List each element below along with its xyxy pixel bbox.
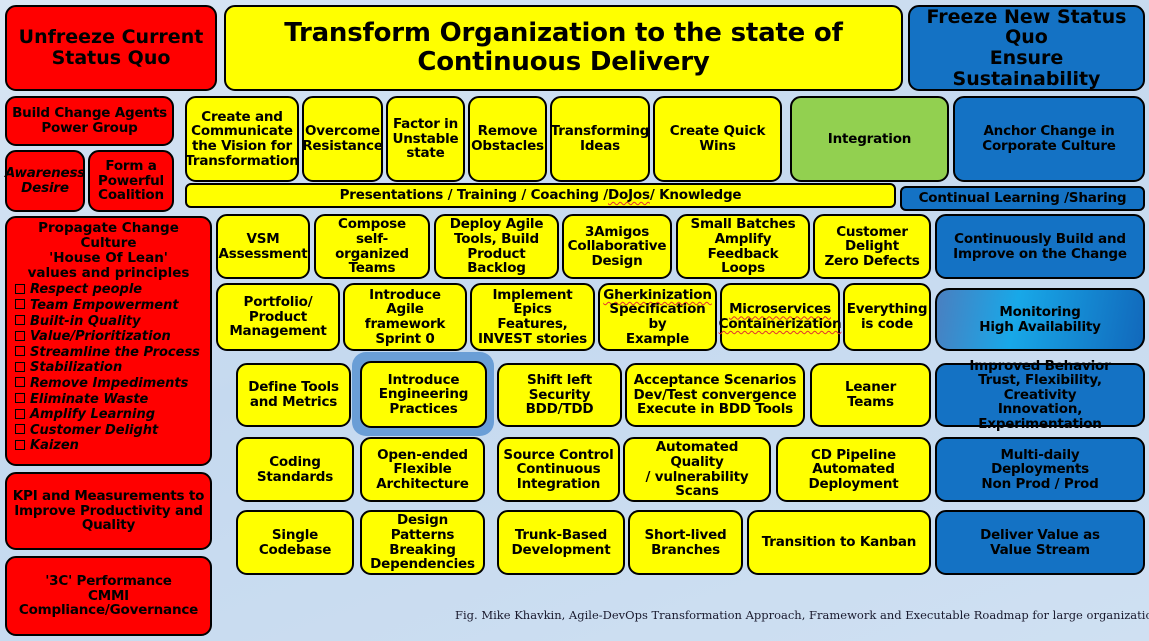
row6-deliver-value-stream: Deliver Value as Value Stream (935, 510, 1145, 575)
header-freeze: Freeze New Status Quo Ensure Sustainabil… (908, 5, 1145, 91)
list-item: Stabilization (11, 360, 206, 376)
checkbox-icon (15, 393, 25, 403)
row2-vsm-assessment: VSM Assessment (216, 214, 310, 279)
row2-continuously-build-improve: Continuously Build and Improve on the Ch… (935, 214, 1145, 279)
checkbox-icon (15, 362, 25, 372)
row1-create-communicate-vision: Create and Communicate the Vision for Tr… (185, 96, 299, 182)
containerization-label: Containerization (719, 317, 842, 332)
checkbox-icon (15, 331, 25, 341)
row5-coding-standards: Coding Standards (236, 437, 354, 502)
row4-improved-behavior: Improved Behavior Trust, Flexibility, Cr… (935, 363, 1145, 427)
row2-small-batches-feedback: Small Batches Amplify Feedback Loops (676, 214, 810, 279)
row5-source-control-ci: Source Control Continuous Integration (497, 437, 620, 502)
list-item: Respect people (11, 282, 206, 298)
row1-remove-obstacles: Remove Obstacles (468, 96, 547, 182)
left-awareness-desire: Awareness Desire (5, 150, 85, 212)
row1-integration: Integration (790, 96, 949, 182)
row4-define-tools-metrics: Define Tools and Metrics (236, 363, 351, 427)
row3-portfolio-product-management: Portfolio/ Product Management (216, 283, 340, 351)
row2-customer-delight-zero-defects: Customer Delight Zero Defects (813, 214, 931, 279)
row3-monitoring-high-availability: Monitoring High Availability (935, 288, 1145, 351)
row5-multi-daily-deployments: Multi-daily Deployments Non Prod / Prod (935, 437, 1145, 502)
list-item: Kaizen (11, 438, 206, 454)
row3-introduce-agile-framework: Introduce Agile framework Sprint 0 (343, 283, 467, 351)
row4-shift-left-security: Shift left Security BDD/TDD (497, 363, 622, 427)
row4-acceptance-scenarios-bdd: Acceptance Scenarios Dev/Test convergenc… (625, 363, 805, 427)
row1-overcome-resistance: Overcome Resistance (302, 96, 383, 182)
checkbox-icon (15, 409, 25, 419)
diagram-canvas: Unfreeze Current Status Quo Transform Or… (0, 0, 1149, 641)
left-kpi-measurements: KPI and Measurements to Improve Producti… (5, 472, 212, 550)
row1-create-quick-wins: Create Quick Wins (653, 96, 782, 182)
checkbox-icon (15, 424, 25, 434)
row4-leaner-teams: Leaner Teams (810, 363, 931, 427)
list-item: Built-in Quality (11, 314, 206, 330)
checkbox-icon (15, 440, 25, 450)
row5-cd-pipeline-automated-deployment: CD Pipeline Automated Deployment (776, 437, 931, 502)
row2-deploy-agile-tools: Deploy Agile Tools, Build Product Backlo… (434, 214, 559, 279)
list-item: Eliminate Waste (11, 392, 206, 408)
row2-3amigos-collaborative-design: 3Amigos Collaborative Design (562, 214, 672, 279)
header-transform: Transform Organization to the state of C… (224, 5, 903, 91)
list-item: Team Empowerment (11, 298, 206, 314)
left-house-of-lean: Propagate Change Culture 'House Of Lean'… (5, 216, 212, 466)
house-of-lean-list: Respect people Team Empowerment Built-in… (11, 282, 206, 454)
list-item: Customer Delight (11, 423, 206, 439)
header-unfreeze: Unfreeze Current Status Quo (5, 5, 217, 91)
list-item: Amplify Learning (11, 407, 206, 423)
banner-presentations-training: Presentations / Training / Coaching / Do… (185, 183, 896, 208)
row6-trunk-based-development: Trunk-Based Development (497, 510, 625, 575)
banner-text-pre: Presentations / Training / Coaching / (340, 188, 608, 203)
checkbox-icon (15, 315, 25, 325)
row3-microservices-containerization: Microservices Containerization (720, 283, 840, 351)
row6-transition-to-kanban: Transition to Kanban (747, 510, 931, 575)
row2-compose-self-organized-teams: Compose self-organized Teams (314, 214, 430, 279)
gherkinization-label: Gherkinization (603, 288, 711, 303)
list-item: Streamline the Process (11, 345, 206, 361)
row3-everything-is-code: Everything is code (843, 283, 931, 351)
checkbox-icon (15, 346, 25, 356)
microservices-label: Microservices (729, 302, 831, 317)
row3-implement-epics-invest: Implement Epics Features, INVEST stories (470, 283, 595, 351)
row1-transforming-ideas: Transforming Ideas (550, 96, 650, 182)
row3-gherkinization-spec-by-example: Gherkinization Specification by Example (598, 283, 717, 351)
banner-continual-learning: Continual Learning /Sharing (900, 186, 1145, 211)
figure-caption: Fig. Mike Khavkin, Agile-DevOps Transfor… (455, 608, 1149, 622)
list-item: Remove Impediments (11, 376, 206, 392)
left-build-change-agents: Build Change Agents Power Group (5, 96, 174, 146)
left-form-coalition: Form a Powerful Coalition (88, 150, 174, 212)
banner-text-post: / Knowledge (650, 188, 742, 203)
left-performance-cmmi: '3C' Performance CMMI Compliance/Governa… (5, 556, 212, 636)
checkbox-icon (15, 377, 25, 387)
list-item: Value/Prioritization (11, 329, 206, 345)
row1-anchor-change-culture: Anchor Change in Corporate Culture (953, 96, 1145, 182)
row5-open-ended-flexible-architecture: Open-ended Flexible Architecture (360, 437, 485, 502)
row5-automated-quality-scans: Automated Quality / vulnerability Scans (623, 437, 771, 502)
checkbox-icon (15, 299, 25, 309)
row6-short-lived-branches: Short-lived Branches (628, 510, 743, 575)
row6-design-patterns-dependencies: Design Patterns Breaking Dependencies (360, 510, 485, 575)
row4-introduce-engineering-practices: Introduce Engineering Practices (360, 361, 487, 428)
row1-factor-unstable-state: Factor in Unstable state (386, 96, 465, 182)
gherkinization-sub: Specification by Example (604, 302, 711, 346)
checkbox-icon (15, 284, 25, 294)
house-of-lean-title: Propagate Change Culture 'House Of Lean'… (11, 221, 206, 280)
banner-text-dojos: DoJos (608, 188, 650, 203)
row6-single-codebase: Single Codebase (236, 510, 354, 575)
